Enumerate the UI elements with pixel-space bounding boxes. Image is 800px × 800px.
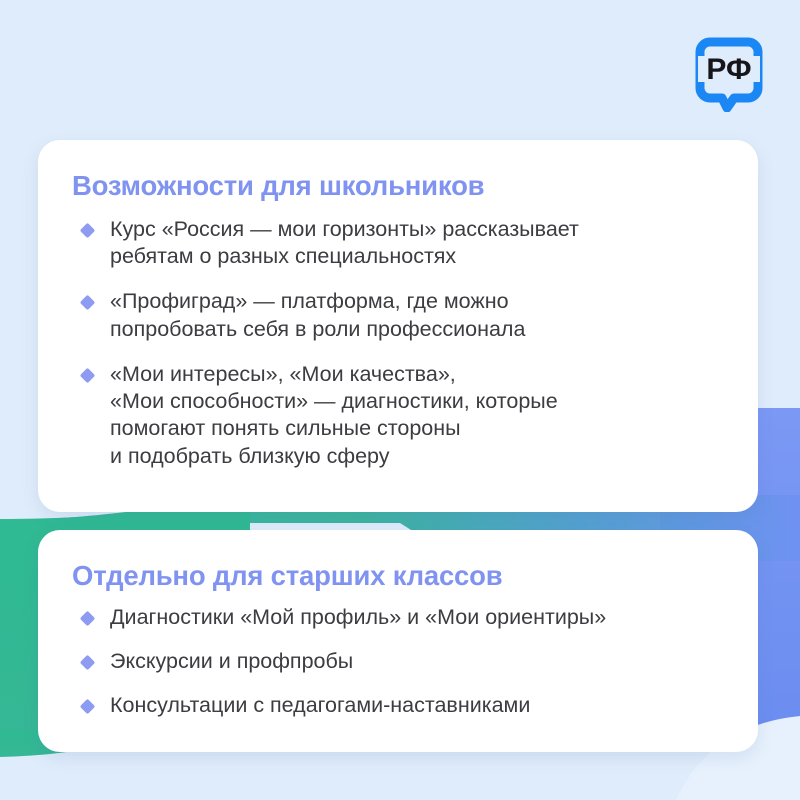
card-seniors-list: Диагностики «Мой профиль» и «Мои ориенти… — [72, 604, 724, 720]
diamond-bullet-icon — [80, 295, 96, 311]
infographic-canvas: РФ Возможности для школьников Курс «Росс… — [0, 0, 800, 800]
card-opportunities-title: Возможности для школьников — [72, 170, 724, 202]
list-item-line: Диагностики «Мой профиль» и «Мои ориенти… — [110, 604, 724, 631]
list-item: Консультации с педагогами-наставниками — [72, 692, 724, 719]
rf-logo-text: РФ — [706, 53, 751, 86]
list-item-line: попробовать себя в роли профессионала — [110, 316, 724, 343]
diamond-bullet-icon — [80, 222, 96, 238]
card-seniors: Отдельно для старших классов Диагностики… — [38, 530, 758, 752]
list-item-line: Консультации с педагогами-наставниками — [110, 692, 724, 719]
list-item: Диагностики «Мой профиль» и «Мои ориенти… — [72, 604, 724, 631]
list-item-line: ребятам о разных специальностях — [110, 243, 724, 270]
card-opportunities-list: Курс «Россия — мои горизонты» рассказыва… — [72, 216, 724, 470]
list-item-line: помогают понять сильные стороны — [110, 415, 724, 442]
list-item-line: «Профиград» — платформа, где можно — [110, 288, 724, 315]
card-opportunities: Возможности для школьников Курс «Россия … — [38, 140, 758, 512]
list-item-line: «Мои способности» — диагностики, которые — [110, 388, 724, 415]
rf-logo: РФ — [686, 26, 772, 112]
list-item: «Профиград» — платформа, где можно попро… — [72, 288, 724, 343]
diamond-bullet-icon — [80, 655, 96, 671]
card-seniors-title: Отдельно для старших классов — [72, 560, 724, 592]
list-item: Курс «Россия — мои горизонты» рассказыва… — [72, 216, 724, 271]
list-item-line: Курс «Россия — мои горизонты» рассказыва… — [110, 216, 724, 243]
rf-logo-icon: РФ — [686, 26, 772, 112]
diamond-bullet-icon — [80, 610, 96, 626]
list-item-line: «Мои интересы», «Мои качества», — [110, 361, 724, 388]
diamond-bullet-icon — [80, 368, 96, 384]
diamond-bullet-icon — [80, 699, 96, 715]
list-item: «Мои интересы», «Мои качества», «Мои спо… — [72, 361, 724, 470]
list-item: Экскурсии и профпробы — [72, 648, 724, 675]
list-item-line: Экскурсии и профпробы — [110, 648, 724, 675]
list-item-line: и подобрать близкую сферу — [110, 443, 724, 470]
